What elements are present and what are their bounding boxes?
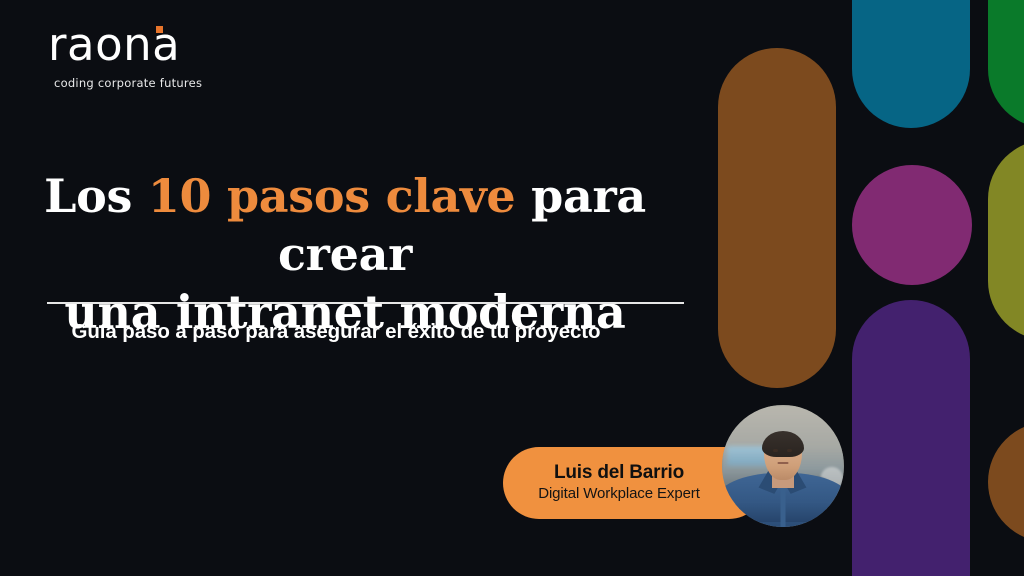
logo-tagline: coding corporate futures	[54, 76, 278, 90]
green-pill-shape	[988, 0, 1024, 128]
olive-pill-shape	[988, 140, 1024, 340]
avatar-eye-right	[787, 449, 792, 452]
avatar-eye-left	[773, 449, 778, 452]
presentation-slide: raona coding corporate futures Los 10 pa…	[0, 0, 1024, 576]
headline-accent: 10 pasos clave	[148, 169, 516, 223]
slide-subtitle: Guía paso a paso para asegurar el éxito …	[0, 320, 672, 344]
headline-divider	[47, 302, 684, 304]
headline-lead: Los	[44, 169, 148, 223]
raona-logo: raona coding corporate futures	[48, 22, 278, 90]
speaker-avatar	[722, 405, 844, 527]
slide-headline: Los 10 pasos clave para crear una intran…	[0, 168, 690, 342]
teal-pill-shape	[852, 0, 970, 128]
avatar-mouth	[778, 462, 789, 464]
purple-pill-shape	[852, 300, 970, 576]
speaker-name: Luis del Barrio	[554, 462, 684, 484]
speaker-role: Digital Workplace Expert	[538, 485, 700, 504]
magenta-circle-shape	[852, 165, 972, 285]
logo-wordmark: raona	[48, 22, 180, 67]
brown-circle-bottom-shape	[988, 422, 1024, 542]
speaker-block: Luis del Barrio Digital Workplace Expert	[503, 447, 843, 531]
brown-pill-top-shape	[718, 48, 836, 388]
logo-dot-icon	[156, 26, 163, 33]
